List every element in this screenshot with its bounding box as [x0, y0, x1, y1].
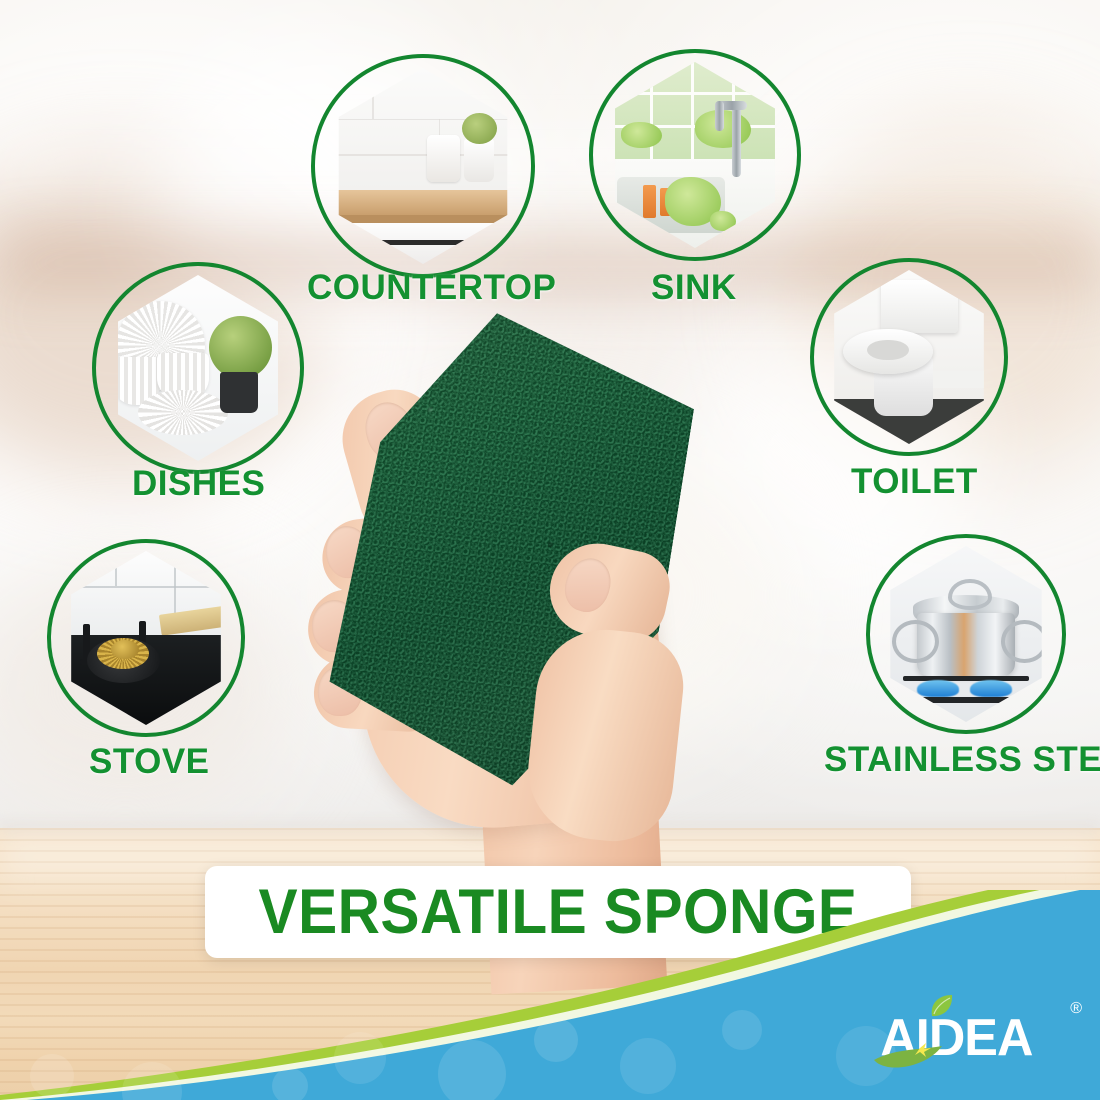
feature-label-stainless-steel: STAINLESS STEEL	[824, 740, 1100, 780]
bubble	[620, 1038, 676, 1094]
countertop-ring	[311, 54, 535, 278]
stainless-steel-ring	[866, 534, 1066, 734]
feature-label-dishes: DISHES	[132, 464, 265, 504]
toilet-ring	[810, 258, 1008, 456]
bubble	[30, 1054, 74, 1098]
product-infographic: COUNTERTOP	[0, 0, 1100, 1100]
feature-stove[interactable]	[47, 539, 245, 737]
dishes-ring	[92, 262, 304, 474]
sink-ring	[589, 49, 801, 261]
feature-label-countertop: COUNTERTOP	[307, 268, 556, 308]
aidea-logo[interactable]: AIDEA ®	[878, 1004, 1078, 1080]
feature-label-sink: SINK	[651, 268, 737, 308]
bubble	[722, 1010, 762, 1050]
bubble	[334, 1032, 386, 1084]
background-blur-streak	[0, 140, 1100, 180]
feature-stainless-steel[interactable]	[866, 534, 1066, 734]
feature-toilet[interactable]	[810, 258, 1008, 456]
feature-sink[interactable]	[589, 49, 801, 261]
bubble	[534, 1018, 578, 1062]
feature-countertop[interactable]	[311, 54, 535, 278]
registered-trademark-symbol: ®	[1070, 1000, 1082, 1018]
feature-dishes[interactable]	[92, 262, 304, 474]
bubble	[122, 1062, 182, 1100]
feature-label-toilet: TOILET	[851, 462, 978, 502]
stove-ring	[47, 539, 245, 737]
leaf-swoosh-icon	[872, 1038, 948, 1070]
feature-label-stove: STOVE	[89, 742, 210, 782]
